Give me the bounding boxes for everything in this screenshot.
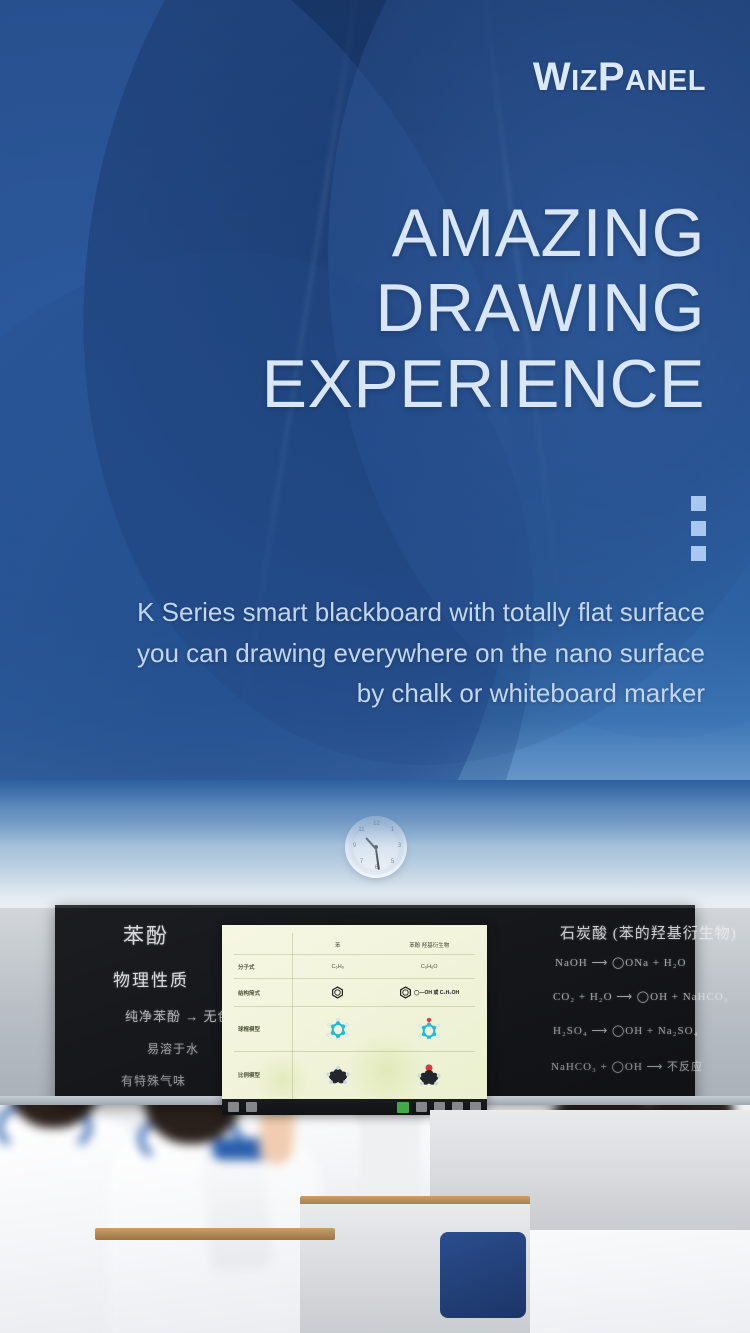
chalk-title-right: 石炭酸 (苯的羟基衍生物)	[560, 922, 737, 943]
logo-letter-w: W	[533, 55, 571, 99]
pen-tool-icon[interactable]	[416, 1102, 427, 1112]
chalk-equation-4: NaHCO₃ + ◯OH ⟶ 不反应	[551, 1058, 703, 1074]
space-fill-phenol-model	[384, 1064, 476, 1086]
subtitle: K Series smart blackboard with totally f…	[15, 592, 705, 714]
logo-letter-p: P	[598, 55, 625, 99]
active-tool-icon[interactable]	[397, 1102, 409, 1113]
photo-top-fade	[0, 780, 750, 890]
chalk-title-left: 苯酚	[123, 920, 169, 950]
save-tool-icon[interactable]	[228, 1102, 239, 1112]
table-row: 分子式 C₆H₆ C₆H₆O	[234, 955, 475, 979]
shape-tool-icon[interactable]	[246, 1102, 257, 1112]
three-dot-separator	[691, 496, 706, 561]
row-label: 球棍模型	[234, 1025, 292, 1033]
row-label: 分子式	[234, 963, 292, 971]
blackboard-frame-left	[0, 908, 58, 1104]
row-label: 比例模型	[234, 1071, 292, 1079]
ball-stick-phenol-model	[384, 1018, 476, 1040]
smart-panel-screen[interactable]: 苯 苯酚 羟基衍生物 分子式 C₆H₆ C₆H₆O 结构简式 ◯—OH 或 C₆…	[222, 925, 487, 1115]
subtitle-line-1: K Series smart blackboard with totally f…	[15, 592, 705, 633]
subtitle-line-3: by chalk or whiteboard marker	[15, 673, 705, 714]
headline-line-2: DRAWING	[45, 271, 705, 346]
table-header-row: 苯 苯酚 羟基衍生物	[234, 935, 475, 955]
chalk-equation-2: CO₂ + H₂O ⟶ ◯OH + NaHCO₃	[553, 990, 729, 1003]
table-col-phenol: 苯酚 羟基衍生物	[384, 941, 476, 949]
subtitle-line-2: you can drawing everywhere on the nano s…	[15, 633, 705, 674]
table-row: 结构简式 ◯—OH 或 C₆H₅OH	[234, 979, 475, 1007]
row-value: C₆H₆O	[384, 964, 476, 970]
chalk-note-left-1: 物理性质	[113, 966, 189, 991]
desk-surface-left	[95, 1228, 335, 1240]
table-row: 比例模型	[234, 1052, 475, 1097]
product-banner: WIZPANEL AMAZING DRAWING EXPERIENCE K Se…	[0, 0, 750, 1333]
space-fill-benzene-model	[292, 1064, 384, 1086]
ball-stick-benzene-model	[292, 1018, 384, 1040]
row-value: C₆H₆	[292, 964, 384, 970]
phenol-structure: ◯—OH 或 C₆H₅OH	[384, 986, 476, 999]
page-title: AMAZING DRAWING EXPERIENCE	[45, 196, 705, 422]
chalk-note-left-4: 有特殊气味	[121, 1072, 186, 1089]
benzene-ring-icon	[292, 986, 384, 999]
phenol-formula-text: ◯—OH 或 C₆H₅OH	[414, 990, 459, 996]
headline-line-3: EXPERIENCE	[45, 347, 705, 422]
chalk-equation-1: NaOH ⟶ ◯ONa + H₂O	[555, 956, 687, 969]
table-row: 球棍模型	[234, 1007, 475, 1052]
headline-line-1: AMAZING	[45, 196, 705, 271]
separator-dot-3	[691, 546, 706, 561]
logo-letters-iz: IZ	[571, 65, 598, 97]
chalk-note-left-3: 易溶于水	[147, 1040, 199, 1057]
separator-dot-2	[691, 521, 706, 536]
table-col-benzene: 苯	[292, 941, 384, 949]
brand-logo: WIZPANEL	[533, 57, 706, 97]
logo-letters-anel: ANEL	[625, 65, 706, 97]
lesson-table: 苯 苯酚 羟基衍生物 分子式 C₆H₆ C₆H₆O 结构简式 ◯—OH 或 C₆…	[222, 925, 487, 1115]
chalk-equation-3: H₂SO₄ ⟶ ◯OH + Na₂SO₄	[553, 1024, 698, 1037]
student-backpack	[440, 1232, 526, 1318]
separator-dot-1	[691, 496, 706, 511]
row-label: 结构简式	[234, 989, 292, 997]
classroom-photo: 12 1 3 5 6 7 9 11 苯酚 物理性质 纯净苯酚 → 无色晶体 易溶…	[0, 780, 750, 1333]
